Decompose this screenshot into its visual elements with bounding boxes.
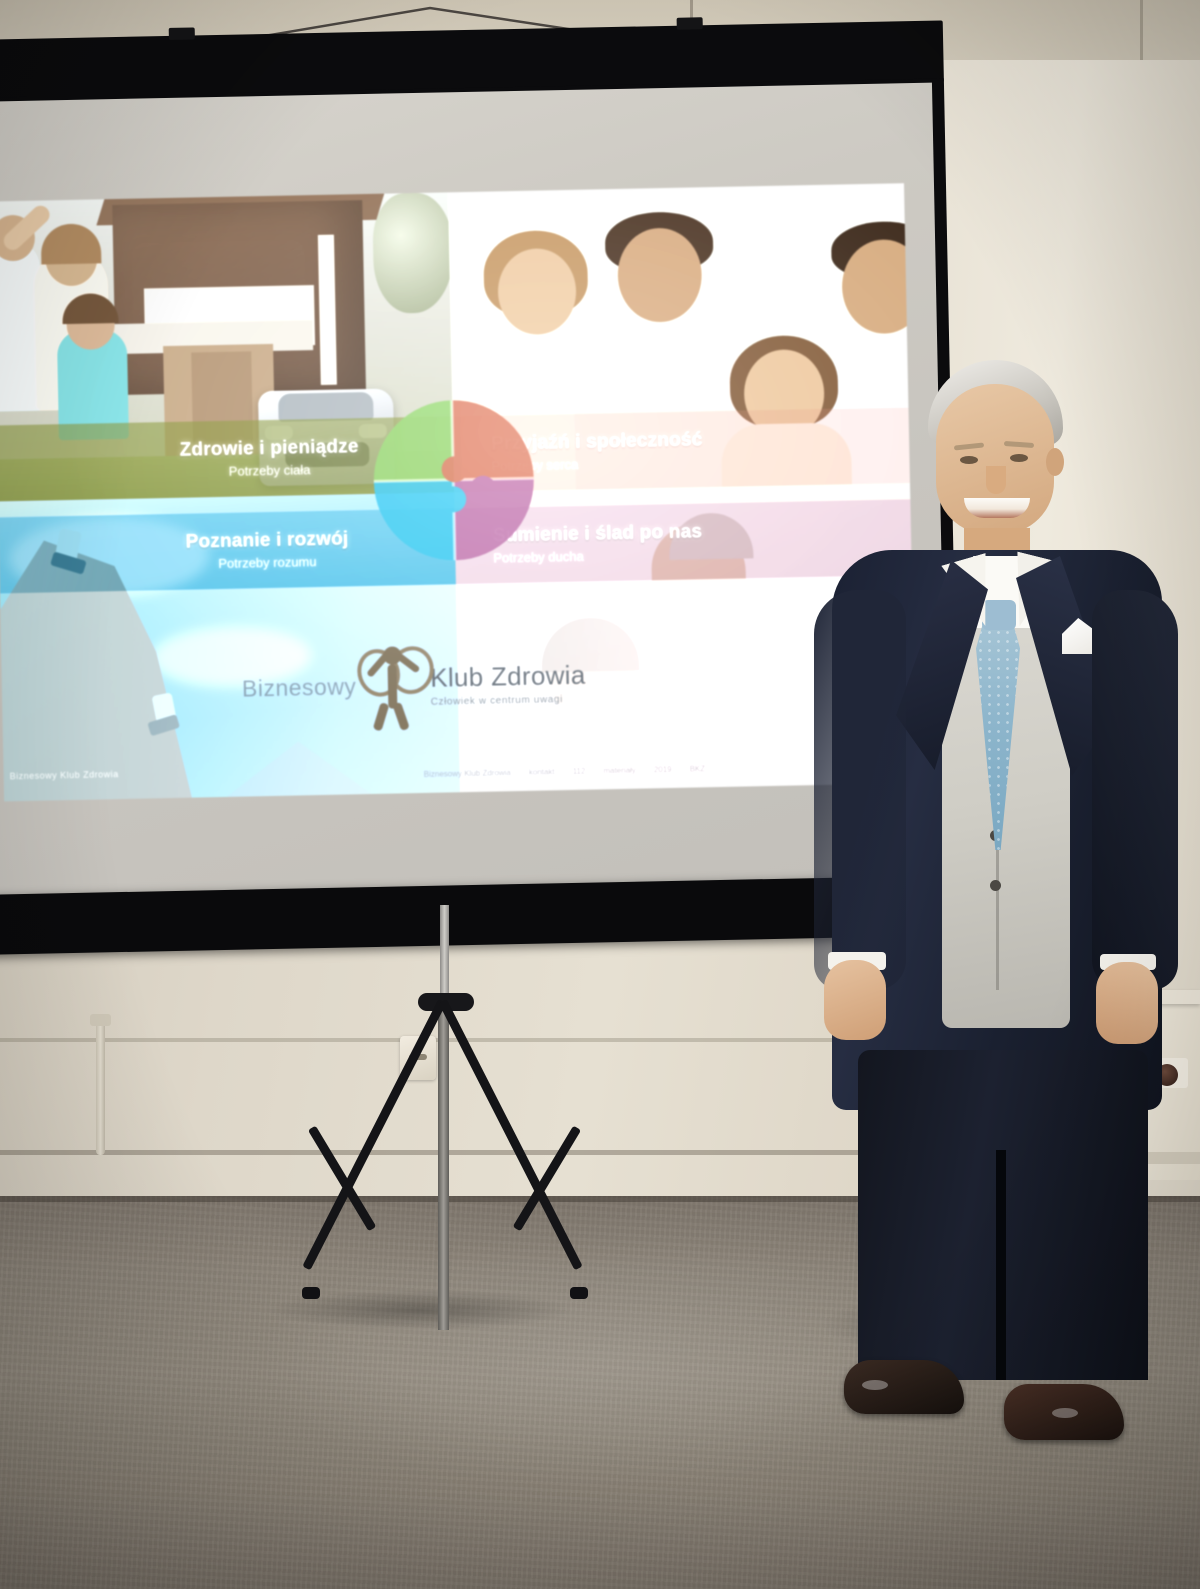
footer-item: kontakt — [529, 767, 555, 777]
footer-item: 2019 — [654, 764, 672, 773]
right-hand — [1096, 962, 1158, 1044]
wall-pipe — [96, 1020, 105, 1155]
tripod-center-leg — [438, 1005, 449, 1330]
eye — [960, 456, 978, 464]
brand-logo: Biznesowy Klub Zdrowia — [241, 632, 683, 737]
tripod-leg — [438, 999, 582, 1270]
photograph-scene: Zdrowie i pieniądze Potrzeby ciała Przyj… — [0, 0, 1200, 1589]
ear — [1046, 448, 1064, 476]
screen-cord-anchor — [169, 27, 195, 40]
band-title: Zdrowie i pieniądze — [179, 436, 358, 462]
footer-item: Biznesowy Klub Zdrowia — [424, 768, 511, 779]
human-figure-icon — [362, 642, 426, 729]
tie-knot — [982, 600, 1016, 630]
screen-cord-anchor — [677, 17, 703, 30]
smiling-mouth — [964, 498, 1030, 518]
left-shoe — [844, 1360, 964, 1414]
tripod-foot — [570, 1287, 588, 1299]
projected-slide: Zdrowie i pieniądze Potrzeby ciała Przyj… — [0, 183, 916, 801]
band-subtitle: Potrzeby rozumu — [218, 554, 317, 571]
left-hand — [824, 960, 886, 1040]
footer-item: 112 — [573, 766, 586, 775]
brand-tagline: Człowiek w centrum uwagi — [431, 693, 587, 707]
band-title: Poznanie i rozwój — [185, 528, 348, 553]
tripod-pole — [440, 905, 449, 1000]
brand-word-left: Biznesowy — [242, 673, 357, 702]
footer-item: BKZ — [690, 764, 706, 773]
left-sleeve — [814, 590, 906, 990]
band-subtitle: Potrzeby ciała — [229, 462, 311, 479]
puzzle-circle-icon — [372, 399, 535, 562]
tripod-stand — [300, 905, 600, 1325]
wall-pipe-cap — [90, 1014, 111, 1026]
nose — [986, 466, 1006, 494]
right-sleeve — [1092, 590, 1178, 990]
eye — [1010, 454, 1028, 462]
brand-word-right: Klub Zdrowia — [430, 659, 586, 693]
footer-item: materiały — [603, 765, 636, 775]
presenter-person — [800, 360, 1200, 1470]
tree-shape — [372, 192, 454, 314]
tripod-foot — [302, 1287, 320, 1299]
tripod-leg — [302, 999, 446, 1270]
waistcoat-button — [990, 880, 1001, 891]
